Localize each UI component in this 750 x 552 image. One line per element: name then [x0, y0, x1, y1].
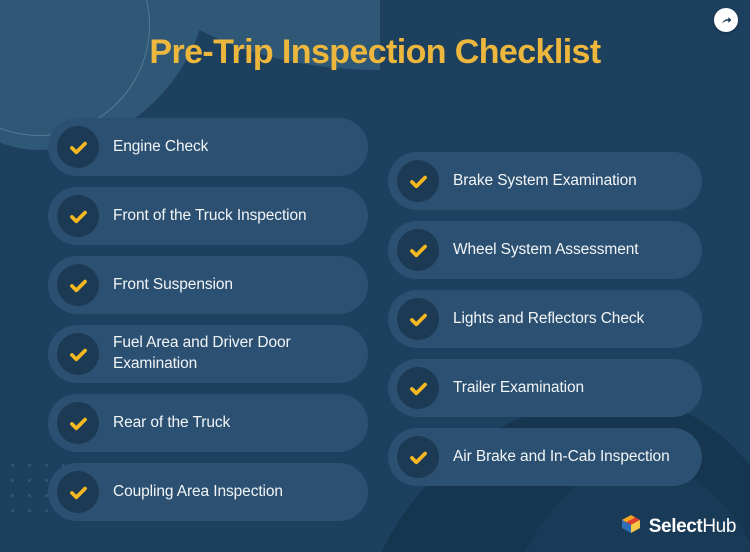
checklist-item[interactable]: Rear of the Truck	[48, 394, 368, 452]
page-title: Pre-Trip Inspection Checklist	[0, 33, 750, 72]
checklist-item[interactable]: Coupling Area Inspection	[48, 463, 368, 521]
checklist-item-label: Engine Check	[113, 137, 208, 158]
share-arrow-icon	[720, 14, 733, 27]
brand-name-bold: Select	[649, 516, 703, 537]
checklist-column-right: Brake System Examination Wheel System As…	[388, 152, 702, 486]
checklist-item[interactable]: Front Suspension	[48, 256, 368, 314]
selecthub-logo[interactable]: SelectHub	[620, 513, 736, 540]
check-icon	[397, 160, 439, 202]
selecthub-wordmark: SelectHub	[649, 516, 736, 538]
checklist-item[interactable]: Wheel System Assessment	[388, 221, 702, 279]
checklist-column-left: Engine Check Front of the Truck Inspecti…	[48, 118, 368, 521]
checklist-item-label: Front Suspension	[113, 275, 233, 296]
checklist-item-label: Trailer Examination	[453, 378, 584, 399]
checklist-item[interactable]: Fuel Area and Driver Door Examination	[48, 325, 368, 383]
check-icon	[57, 402, 99, 444]
check-icon	[57, 333, 99, 375]
infographic-canvas: Pre-Trip Inspection Checklist Engine Che…	[0, 0, 750, 552]
check-icon	[57, 126, 99, 168]
checklist-item-label: Brake System Examination	[453, 171, 637, 192]
checklist-item[interactable]: Lights and Reflectors Check	[388, 290, 702, 348]
checklist-item-label: Lights and Reflectors Check	[453, 309, 644, 330]
checklist-item-label: Air Brake and In-Cab Inspection	[453, 447, 670, 468]
checklist-item[interactable]: Front of the Truck Inspection	[48, 187, 368, 245]
check-icon	[57, 471, 99, 513]
check-icon	[397, 367, 439, 409]
checklist-item[interactable]: Air Brake and In-Cab Inspection	[388, 428, 702, 486]
check-icon	[397, 298, 439, 340]
checklist-item[interactable]: Trailer Examination	[388, 359, 702, 417]
checklist-item[interactable]: Brake System Examination	[388, 152, 702, 210]
checklist-item[interactable]: Engine Check	[48, 118, 368, 176]
share-button[interactable]	[714, 8, 738, 32]
checklist-item-label: Coupling Area Inspection	[113, 482, 283, 503]
checklist-item-label: Wheel System Assessment	[453, 240, 639, 261]
check-icon	[57, 264, 99, 306]
check-icon	[57, 195, 99, 237]
selecthub-cube-icon	[620, 513, 642, 540]
checklist-item-label: Front of the Truck Inspection	[113, 206, 307, 227]
checklist-item-label: Fuel Area and Driver Door Examination	[113, 333, 354, 374]
check-icon	[397, 436, 439, 478]
brand-name-light: Hub	[702, 516, 736, 537]
checklist-item-label: Rear of the Truck	[113, 413, 230, 434]
check-icon	[397, 229, 439, 271]
